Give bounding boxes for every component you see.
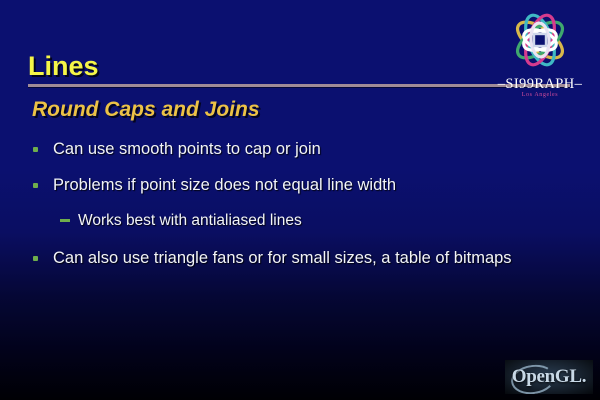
opengl-logo: OpenGL. <box>505 360 593 394</box>
list-item-label: Works best with antialiased lines <box>78 210 600 232</box>
siggraph-mark-icon <box>500 6 580 78</box>
list-item-sub: Works best with antialiased lines <box>0 210 600 232</box>
wordmark-dash-right: – <box>575 76 583 92</box>
bullet-dash-icon <box>60 219 70 222</box>
list-item: Can also use triangle fans or for small … <box>0 247 600 269</box>
list-item-label: Problems if point size does not equal li… <box>53 174 600 196</box>
siggraph-logo: –SI99RAPH– Los Angeles <box>486 4 594 106</box>
siggraph-city-label: Los Angeles <box>486 92 594 98</box>
list-item: Problems if point size does not equal li… <box>0 174 600 196</box>
list-item-label: Can use smooth points to cap or join <box>53 138 600 160</box>
siggraph-wordmark: –SI99RAPH– <box>486 76 594 93</box>
list-item-label: Can also use triangle fans or for small … <box>53 247 600 269</box>
bullet-dot-icon <box>33 147 38 152</box>
bullet-dot-icon <box>33 256 38 261</box>
wordmark-text: SI99RAPH <box>505 76 574 92</box>
bullet-list: Can use smooth points to cap or join Pro… <box>0 138 600 283</box>
slide-subtitle: Round Caps and Joins <box>32 98 260 122</box>
opengl-wordmark: OpenGL. <box>505 360 593 394</box>
list-item: Can use smooth points to cap or join <box>0 138 600 160</box>
page-title: Lines <box>28 51 99 82</box>
presentation-slide: Lines Round Caps and Joins Can use smoot… <box>0 0 600 400</box>
bullet-dot-icon <box>33 183 38 188</box>
